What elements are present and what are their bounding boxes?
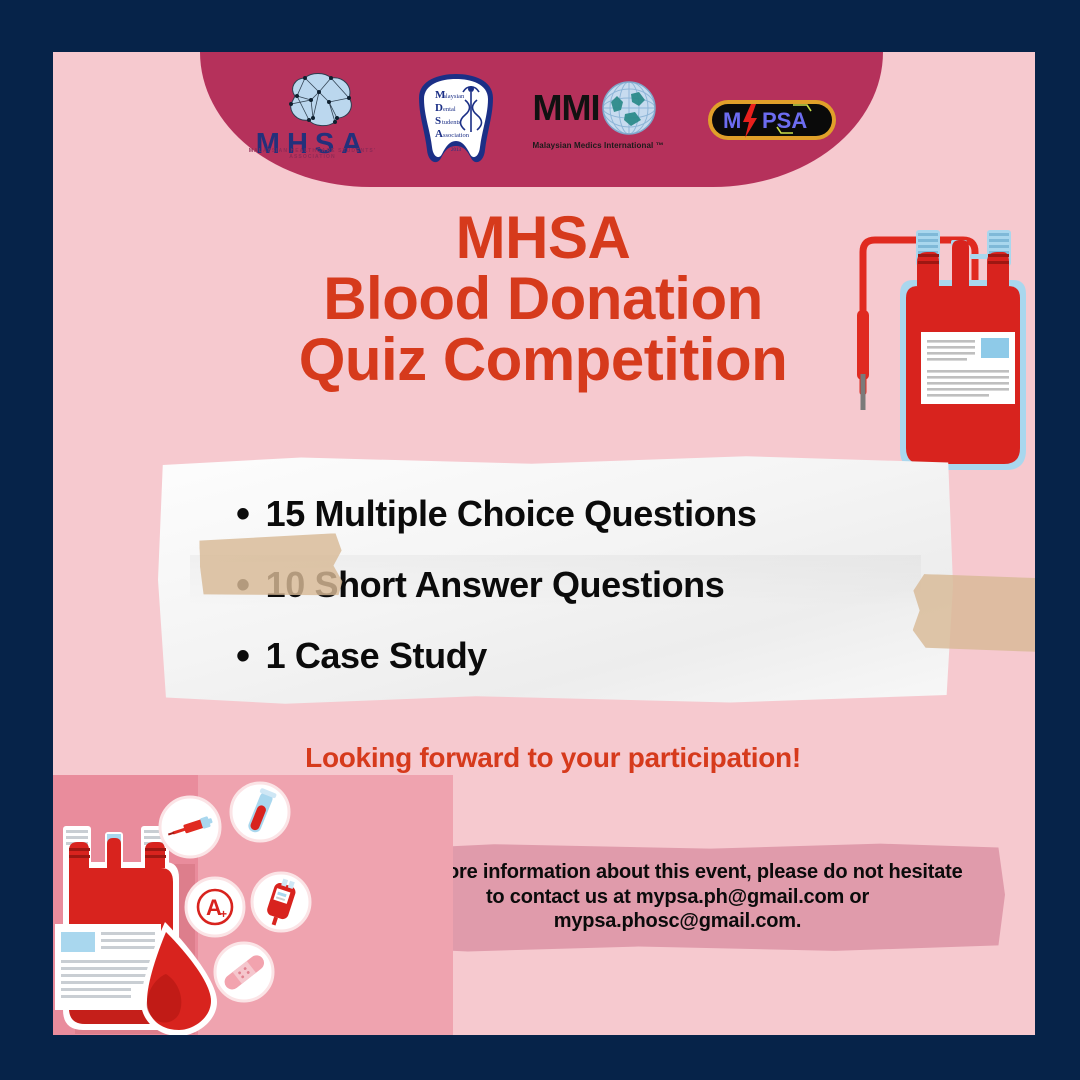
svg-text:PSA: PSA bbox=[762, 108, 807, 133]
list-item: • 15 Multiple Choice Questions bbox=[236, 493, 923, 535]
blood-bag-illustration bbox=[788, 182, 1035, 502]
poster-root: MHSA MALAYSIAN HEALTHCARE STUDENTS' ASSO… bbox=[0, 0, 1080, 1080]
logo-mmi-subtitle: Malaysian Medics International ™ bbox=[533, 141, 673, 150]
test-tube-icon bbox=[229, 781, 291, 843]
tagline-text: Looking forward to your participation! bbox=[233, 742, 873, 774]
poster-title: MHSA Blood Donation Quiz Competition bbox=[243, 207, 843, 391]
list-item-label: 15 Multiple Choice Questions bbox=[266, 493, 757, 535]
svg-text:+: + bbox=[220, 907, 227, 921]
tooth-caduceus-icon: M alaysian D ental S tudents' A ssociati… bbox=[413, 72, 499, 168]
list-item: • 1 Case Study bbox=[236, 635, 923, 677]
tape-left-icon bbox=[199, 533, 343, 599]
bullet-icon: • bbox=[236, 498, 250, 530]
logo-mmi-wordmark: MMI bbox=[533, 90, 600, 126]
needle-icon bbox=[857, 310, 869, 380]
bullet-icon: • bbox=[236, 640, 250, 672]
title-line-1: MHSA bbox=[243, 207, 843, 268]
logo-mmi: MMI bbox=[533, 80, 673, 160]
logo-mdsa: M alaysian D ental S tudents' A ssociati… bbox=[413, 72, 499, 168]
logo-mhsa: MHSA MALAYSIAN HEALTHCARE STUDENTS' ASSO… bbox=[247, 72, 379, 168]
blood-bag-icon bbox=[250, 871, 312, 933]
lightning-bolt-icon: M PSA bbox=[707, 97, 837, 143]
svg-text:M: M bbox=[723, 108, 741, 133]
poster-card: MHSA MALAYSIAN HEALTHCARE STUDENTS' ASSO… bbox=[53, 52, 1035, 1035]
title-line-3: Quiz Competition bbox=[243, 329, 843, 390]
svg-text:D: D bbox=[435, 102, 443, 114]
svg-text:tudents': tudents' bbox=[442, 119, 462, 126]
svg-text:alaysian: alaysian bbox=[443, 93, 465, 100]
logo-mhsa-subtitle: MALAYSIAN HEALTHCARE STUDENTS' ASSOCIATI… bbox=[247, 148, 379, 160]
title-line-2: Blood Donation bbox=[243, 268, 843, 329]
note-paper-card: • 15 Multiple Choice Questions • 10 Shor… bbox=[158, 455, 953, 705]
svg-text:ssociation: ssociation bbox=[443, 132, 470, 139]
logo-mypsa: M PSA bbox=[707, 97, 837, 143]
svg-text:A: A bbox=[435, 128, 443, 140]
svg-text:2013: 2013 bbox=[451, 148, 462, 153]
svg-text:ental: ental bbox=[443, 106, 456, 113]
blood-type-a-positive-icon: A + bbox=[184, 876, 246, 938]
syringe-icon bbox=[158, 795, 222, 859]
globe-icon bbox=[601, 80, 657, 136]
brain-network-icon bbox=[277, 72, 355, 134]
bandage-icon bbox=[213, 941, 275, 1003]
list-item-label: 1 Case Study bbox=[266, 635, 487, 677]
bottom-left-art-panel: A + bbox=[53, 775, 453, 1035]
tape-right-icon bbox=[912, 574, 1035, 652]
svg-text:S: S bbox=[435, 115, 441, 127]
logo-header-band: MHSA MALAYSIAN HEALTHCARE STUDENTS' ASSO… bbox=[200, 52, 883, 187]
